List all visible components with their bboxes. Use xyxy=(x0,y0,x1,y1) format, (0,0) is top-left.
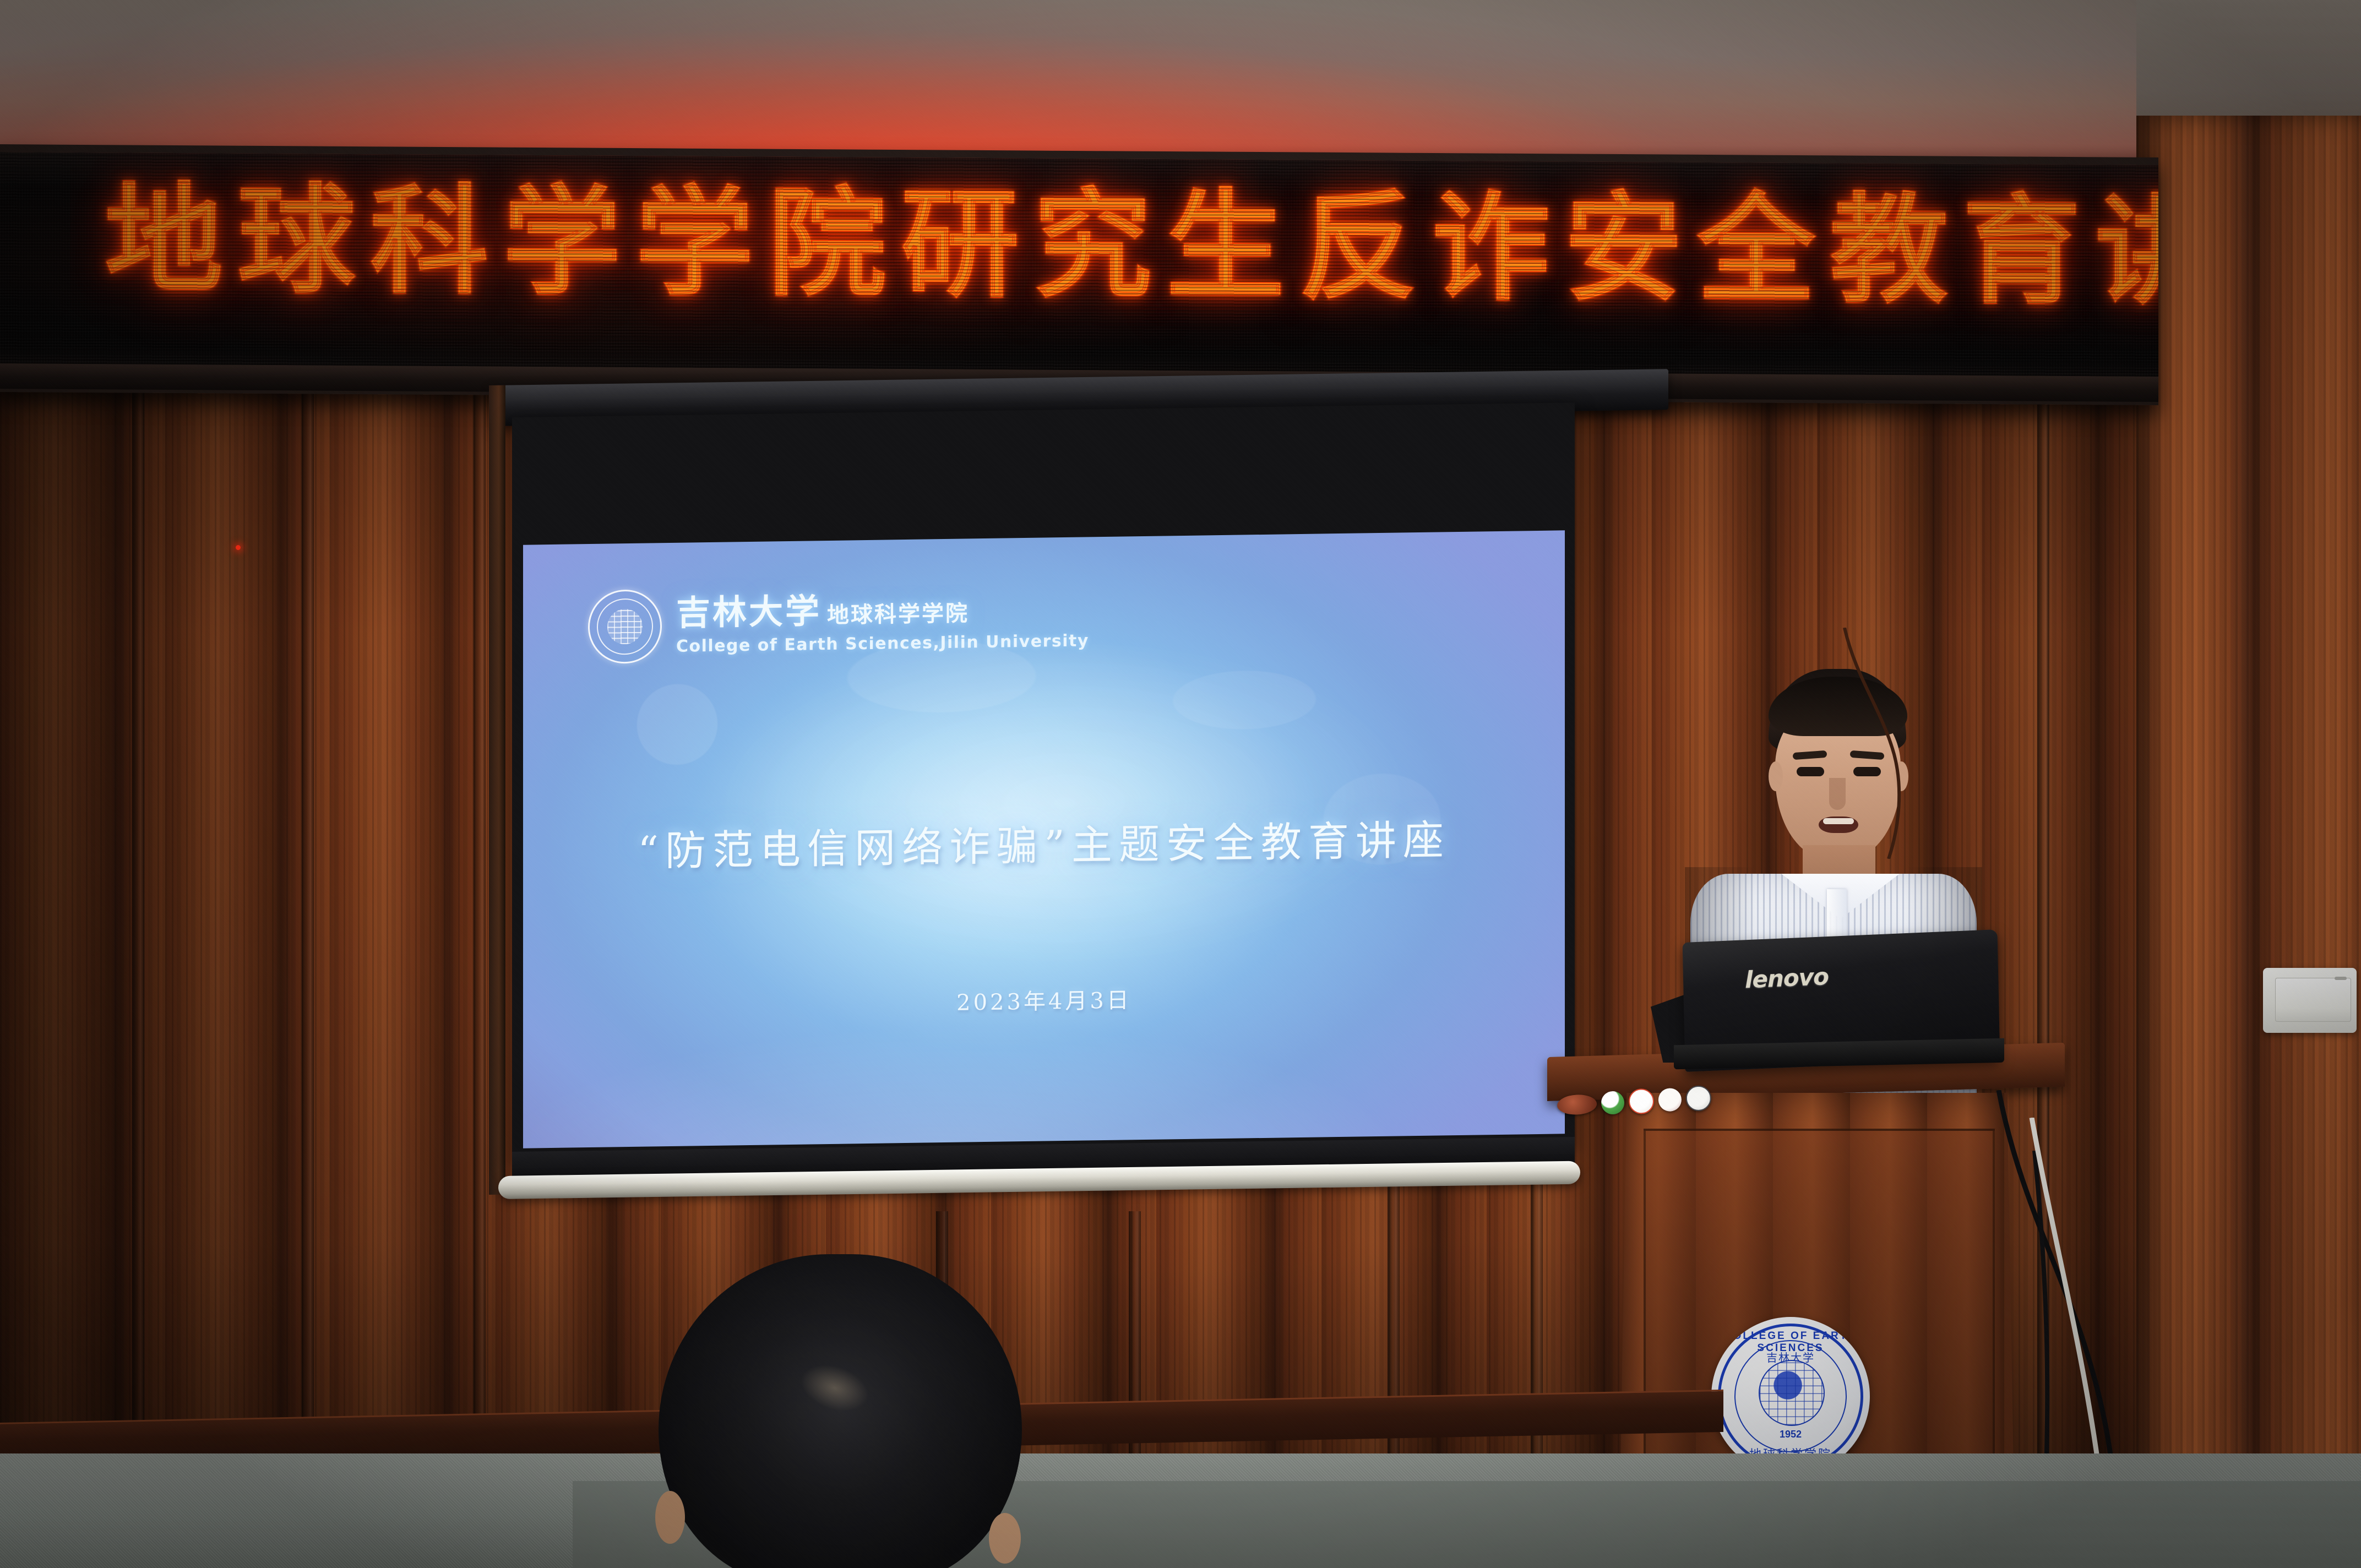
lecture-hall-photo: 地球科学学院研究生反诈安全教育讲座 吉林大学地球科学学院 College of … xyxy=(0,0,2361,1568)
slide-logo-block: 吉林大学地球科学学院 College of Earth Sciences,Jil… xyxy=(588,583,1089,664)
crest-ring xyxy=(590,591,660,662)
projection-screen[interactable]: 吉林大学地球科学学院 College of Earth Sciences,Jil… xyxy=(512,402,1575,1165)
ceiling-with-led-glow xyxy=(0,0,2361,165)
slide-logo-chinese: 吉林大学地球科学学院 xyxy=(676,590,1089,630)
slide-light-wave xyxy=(523,924,1565,1148)
red-laser-dot-icon xyxy=(236,545,241,550)
audience-ear-right xyxy=(989,1513,1021,1564)
sticker-pink-icon xyxy=(1658,1088,1682,1112)
jilin-university-crest-icon xyxy=(588,589,662,664)
emblem-globe-icon xyxy=(1759,1360,1825,1426)
podium-college-emblem-icon: COLLEGE OF EARTH SCIENCES 吉林大学 1952 地球科学… xyxy=(1711,1317,1870,1476)
slide-logo-english: College of Earth Sciences,Jilin Universi… xyxy=(676,631,1089,656)
audience-ear-left xyxy=(655,1491,685,1544)
wall-trim-left-of-screen xyxy=(489,385,505,1195)
sticker-oval-amber-icon xyxy=(1557,1094,1597,1116)
light-switch-indicator xyxy=(2335,977,2347,980)
led-banner-text: 地球科学学院研究生反诈安全教育讲座 xyxy=(105,173,2109,318)
speaker-eye-left xyxy=(1797,767,1824,776)
speaker-ear-left xyxy=(1769,761,1783,791)
sticker-green-icon xyxy=(1601,1091,1625,1115)
wall-cable-loop xyxy=(1834,628,1944,859)
slide-logo-chinese-main: 吉林大学 xyxy=(676,591,822,633)
light-switch-rocker[interactable] xyxy=(2275,978,2351,1022)
wall-light-switch[interactable] xyxy=(2263,968,2357,1033)
laptop-brand-label: lenovo xyxy=(1745,963,1829,993)
emblem-year: 1952 xyxy=(1711,1429,1870,1440)
sticker-grey-icon xyxy=(1685,1085,1712,1112)
sticker-red-white-icon xyxy=(1628,1088,1655,1114)
projected-slide: 吉林大学地球科学学院 College of Earth Sciences,Jil… xyxy=(523,530,1565,1148)
slide-logo-chinese-sub: 地球科学学院 xyxy=(827,601,969,628)
audience-member-head xyxy=(659,1254,1022,1568)
